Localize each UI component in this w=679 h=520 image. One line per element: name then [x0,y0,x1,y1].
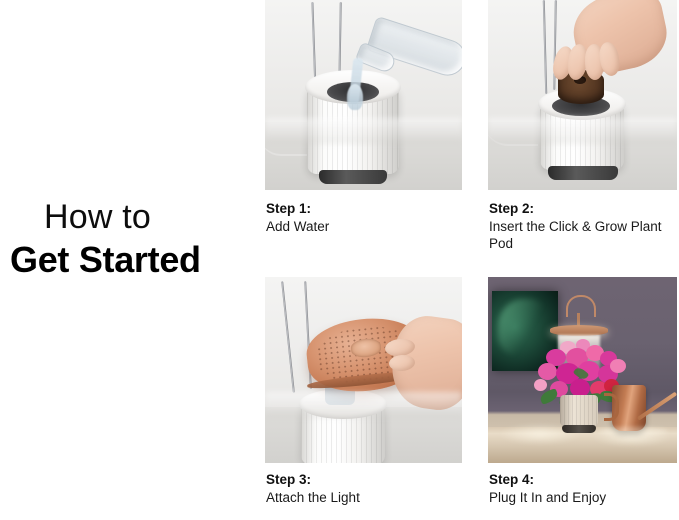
headline-line-1: How to [44,196,255,238]
step-2-caption: Step 2: Insert the Click & Grow Plant Po… [489,200,677,253]
step-4-panel: Step 4: Plug It In and Enjoy [488,277,677,520]
step-1-caption: Step 1: Add Water [266,200,329,235]
step-4-caption: Step 4: Plug It In and Enjoy [489,471,606,506]
step-3-caption: Step 3: Attach the Light [266,471,360,506]
step-1-panel: Step 1: Add Water [265,0,462,245]
step-4-description: Plug It In and Enjoy [489,489,606,507]
step-1-photo [265,0,462,190]
step-1-label: Step 1: [266,200,329,218]
step-2-description: Insert the Click & Grow Plant Pod [489,218,677,253]
step-4-photo [488,277,677,463]
step-4-label: Step 4: [489,471,606,489]
step-3-description: Attach the Light [266,489,360,507]
step-2-panel: Step 2: Insert the Click & Grow Plant Po… [488,0,677,265]
step-1-description: Add Water [266,218,329,236]
step-2-label: Step 2: [489,200,677,218]
step-3-photo [265,277,462,463]
headline-block: How to Get Started [10,196,255,282]
step-2-photo [488,0,677,190]
step-3-panel: Step 3: Attach the Light [265,277,462,520]
headline-line-2: Get Started [10,238,255,282]
step-3-label: Step 3: [266,471,360,489]
how-to-get-started-infographic: How to Get Started [0,0,679,520]
